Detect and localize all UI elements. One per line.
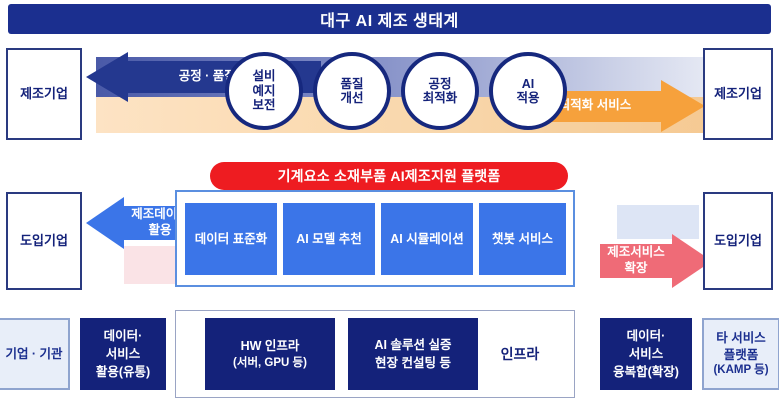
platform-item-label: AI 시뮬레이션: [390, 231, 463, 247]
row2-left-adopter-box: 도입기업: [6, 192, 82, 290]
row2-manufacturing-service-arrow: 제조서비스 확장: [600, 234, 712, 288]
box-line-2: 서비스: [106, 345, 141, 363]
row2-right-arrow-label-1: 제조서비스: [607, 245, 665, 261]
arrow-head-right-icon: [661, 80, 705, 132]
row3-data-service-convergence-box: 데이터· 서비스 융복합(확장): [600, 318, 692, 390]
circle-line-2: 적용: [516, 91, 539, 105]
row1-right-company-label: 제조기업: [714, 86, 762, 102]
platform-item-ai-simulation[interactable]: AI 시뮬레이션: [381, 203, 473, 275]
circle-line-2: 최적화: [423, 91, 458, 105]
row1-right-company-box: 제조기업: [703, 48, 773, 140]
row1-left-company-label: 제조기업: [20, 86, 68, 102]
arrow-tail: 제조서비스 확장: [600, 244, 672, 278]
circle-line-2: 개선: [340, 91, 363, 105]
circle-line-1: AI: [522, 77, 535, 91]
row1-circle-quality-improvement: 품질 개선: [313, 52, 391, 130]
box-line-1: AI 솔루션 실증: [375, 336, 452, 354]
circle-line-1: 품질: [340, 77, 363, 91]
row3-data-service-distribution-box: 데이터· 서비스 활용(유통): [80, 318, 166, 390]
row1-circle-ai-application: AI 적용: [489, 52, 567, 130]
row2-left-adopter-label: 도입기업: [20, 233, 68, 249]
row1-right-arrow-label: 최적화 서비스: [559, 98, 631, 114]
row3-other-service-platform-box: 타 서비스 플랫폼 (KAMP 등): [702, 318, 779, 390]
circle-line-1: 설비: [252, 69, 275, 83]
box-line-3: 활용(유통): [96, 363, 150, 381]
platform-item-label: 챗봇 서비스: [492, 231, 553, 247]
box-line-1: 데이터·: [627, 327, 666, 345]
box-line-1: 타 서비스: [716, 330, 765, 346]
box-line-2: 현장 컨설팅 등: [375, 354, 451, 372]
box-line-1: HW 인프라: [241, 337, 300, 355]
platform-banner: 기계요소 소재부품 AI제조지원 플랫폼: [210, 162, 568, 190]
row1-circle-predictive-maintenance: 설비 예지 보전: [225, 52, 303, 130]
row2-right-arrow-label-2: 확장: [624, 261, 647, 277]
row3-enterprise-institution-label: 기업 · 기관: [5, 346, 62, 362]
box-line-2: 플랫폼: [724, 347, 759, 363]
page-title-text: 대구 AI 제조 생태계: [320, 7, 458, 31]
platform-item-data-standardization[interactable]: 데이터 표준화: [185, 203, 277, 275]
circle-line-1: 공정: [428, 77, 451, 91]
box-line-2: 서비스: [629, 345, 664, 363]
row3-hw-infrastructure-box: HW 인프라 (서버, GPU 등): [205, 318, 335, 390]
row3-infrastructure-label-text: 인프라: [501, 344, 540, 364]
row3-ai-solution-validation-box: AI 솔루션 실증 현장 컨설팅 등: [348, 318, 478, 390]
box-line-1: 데이터·: [104, 327, 143, 345]
box-line-3: (KAMP 등): [713, 363, 768, 378]
page-title: 대구 AI 제조 생태계: [8, 4, 771, 34]
row3-enterprise-institution-box: 기업 · 기관: [0, 318, 70, 390]
row2-right-adopter-box: 도입기업: [703, 192, 773, 290]
platform-banner-text: 기계요소 소재부품 AI제조지원 플랫폼: [278, 166, 501, 186]
circle-line-3: 보전: [252, 98, 275, 112]
platform-item-chatbot-service[interactable]: 챗봇 서비스: [479, 203, 566, 275]
platform-item-ai-model-recommendation[interactable]: AI 모델 추천: [283, 203, 375, 275]
circle-line-2: 예지: [252, 84, 275, 98]
box-line-2: (서버, GPU 등): [233, 355, 307, 372]
platform-item-label: AI 모델 추천: [296, 231, 361, 247]
row2-right-adopter-label: 도입기업: [714, 233, 762, 249]
platform-item-label: 데이터 표준화: [195, 231, 267, 247]
row3-infrastructure-label: 인프라: [470, 318, 570, 390]
row2-left-arrow-label-2: 활용: [148, 223, 171, 239]
arrow-head-left-icon: [86, 197, 124, 249]
arrow-head-left-icon: [86, 52, 128, 102]
row1-circle-process-optimization: 공정 최적화: [401, 52, 479, 130]
row1-left-company-box: 제조기업: [6, 48, 82, 140]
box-line-3: 융복합(확장): [613, 363, 679, 381]
